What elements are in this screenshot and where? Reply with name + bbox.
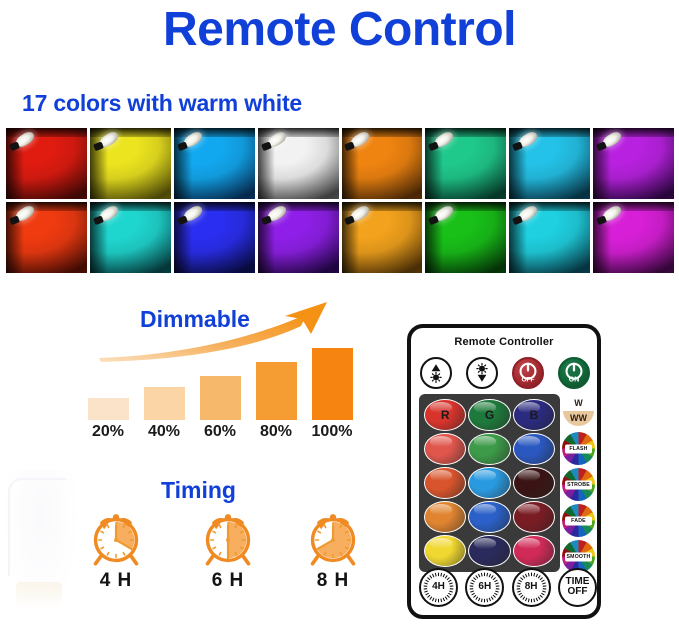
color-button-r[interactable]: R <box>424 399 466 431</box>
product-photo-faded <box>2 470 80 620</box>
timing-label: 4 H <box>73 570 159 592</box>
product-body <box>8 478 68 576</box>
mode-button-label: FADE <box>562 518 595 524</box>
remote-function-row: OFF ON <box>420 356 590 390</box>
color-swatch-sky-cyan <box>509 128 590 199</box>
color-swatch-azure-blue <box>174 128 255 199</box>
dimmable-label-80: 80% <box>248 423 304 441</box>
timing-item-8h: 8 H <box>290 512 376 592</box>
page-title: Remote Control <box>0 2 679 58</box>
dimmable-bar-chart <box>88 345 360 420</box>
product-base <box>16 582 62 608</box>
color-swatch-purple <box>593 128 674 199</box>
color-button-6[interactable] <box>513 433 555 465</box>
dimmable-bar-40 <box>144 387 185 420</box>
colors-section-heading: 17 colors with warm white <box>22 90 302 117</box>
timer-button-8h[interactable]: 8H <box>512 568 551 607</box>
dimmable-bar-column <box>144 387 185 420</box>
dimmable-bar-column <box>88 398 129 420</box>
color-swatch-spring-green <box>425 128 506 199</box>
dimmable-bar-column <box>200 376 241 420</box>
mode-button-fade[interactable]: FADE <box>562 504 595 537</box>
mode-button-label: STROBE <box>562 482 595 488</box>
timer-button-label: 4H <box>432 582 445 592</box>
mode-button-label: SMOOTH <box>562 554 595 560</box>
color-button-10[interactable] <box>424 501 466 533</box>
color-button-15[interactable] <box>513 535 555 567</box>
color-button-label: B <box>529 408 538 422</box>
dimmable-bar-column <box>312 348 353 420</box>
mode-button-strobe[interactable]: STROBE <box>562 468 595 501</box>
svg-text:OFF: OFF <box>521 376 534 383</box>
dimmable-bar-80 <box>256 362 297 420</box>
brightness-down-button[interactable] <box>466 357 498 389</box>
color-button-pad: RGB <box>419 394 560 572</box>
brightness-up-button[interactable] <box>420 357 452 389</box>
color-swatch-turquoise <box>90 202 171 273</box>
timing-item-6h: 6 H <box>185 512 271 592</box>
color-swatch-grid <box>6 128 674 273</box>
warm-white-label: WW <box>563 411 594 427</box>
white-warmwhite-button[interactable]: W WW <box>562 394 595 427</box>
mode-button-label: FLASH <box>562 446 595 452</box>
color-swatch-red <box>6 128 87 199</box>
color-swatch-orange <box>342 128 423 199</box>
dimmable-label-40: 40% <box>136 423 192 441</box>
color-button-13[interactable] <box>424 535 466 567</box>
color-button-grid: RGB <box>424 399 555 567</box>
color-swatch-violet <box>258 202 339 273</box>
color-button-14[interactable] <box>468 535 510 567</box>
dimmable-bar-20 <box>88 398 129 420</box>
timer-button-6h[interactable]: 6H <box>465 568 504 607</box>
dimmable-bar-100 <box>312 348 353 420</box>
timing-label: 8 H <box>290 570 376 592</box>
dimmable-label-100: 100% <box>304 423 360 441</box>
dimmable-bar-column <box>256 362 297 420</box>
alarm-clock-icon <box>73 512 159 568</box>
remote-right-column: W WW FLASHSTROBEFADESMOOTH <box>561 394 597 572</box>
alarm-clock-icon <box>185 512 271 568</box>
timing-label: 6 H <box>185 570 271 592</box>
remote-controller[interactable]: Remote Controller <box>407 324 601 619</box>
dimmable-label-60: 60% <box>192 423 248 441</box>
dimmable-label-20: 20% <box>80 423 136 441</box>
dimmable-bar-60 <box>200 376 241 420</box>
color-button-5[interactable] <box>468 433 510 465</box>
color-swatch-amber <box>342 202 423 273</box>
remote-timer-row: 4H6H8HTIME OFF <box>419 567 597 607</box>
color-button-label: R <box>441 408 450 422</box>
timer-button-4h[interactable]: 4H <box>419 568 458 607</box>
timer-button-label: 8H <box>525 582 538 592</box>
mode-button-flash[interactable]: FLASH <box>562 432 595 465</box>
color-swatch-blue <box>174 202 255 273</box>
color-button-g[interactable]: G <box>468 399 510 431</box>
color-swatch-red-orange <box>6 202 87 273</box>
timer-button-label: 6H <box>478 582 491 592</box>
color-button-12[interactable] <box>513 501 555 533</box>
power-off-button[interactable]: OFF <box>512 357 544 389</box>
remote-title: Remote Controller <box>411 336 597 348</box>
color-swatch-yellow <box>90 128 171 199</box>
color-button-8[interactable] <box>468 467 510 499</box>
timer-button-label: TIME OFF <box>566 577 590 597</box>
timer-button-time-off[interactable]: TIME OFF <box>558 568 597 607</box>
color-button-label: G <box>485 408 494 422</box>
white-label: W <box>563 395 594 411</box>
color-swatch-green <box>425 202 506 273</box>
power-on-button[interactable]: ON <box>558 357 590 389</box>
color-button-4[interactable] <box>424 433 466 465</box>
color-button-9[interactable] <box>513 467 555 499</box>
timing-heading: Timing <box>161 477 236 504</box>
color-button-b[interactable]: B <box>513 399 555 431</box>
color-swatch-magenta <box>593 202 674 273</box>
alarm-clock-icon <box>290 512 376 568</box>
color-button-11[interactable] <box>468 501 510 533</box>
dimmable-bar-labels: 20%40%60%80%100% <box>80 423 370 445</box>
svg-text:ON: ON <box>569 376 580 383</box>
color-swatch-white <box>258 128 339 199</box>
color-button-7[interactable] <box>424 467 466 499</box>
color-swatch-cyan <box>509 202 590 273</box>
timing-item-4h: 4 H <box>73 512 159 592</box>
